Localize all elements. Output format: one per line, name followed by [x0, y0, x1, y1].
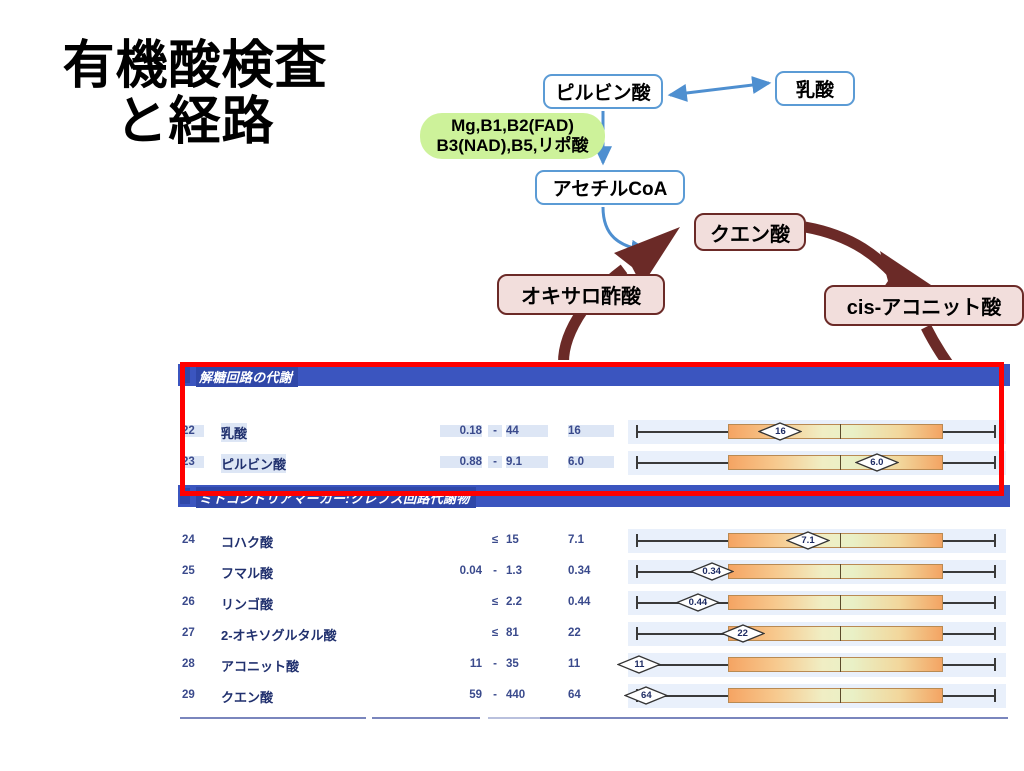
plot-value-label: 64: [624, 686, 668, 705]
plot-value-marker[interactable]: 0.34: [690, 562, 734, 581]
plot-value-label: 22: [721, 624, 765, 643]
plot-cap-left: [636, 627, 638, 640]
node-cis-aconitate[interactable]: cis-アコニット酸: [824, 285, 1024, 326]
table-row[interactable]: 23ピルビン酸0.88-9.16.06.0: [178, 448, 1010, 479]
row-range-high: 2.2: [506, 596, 548, 608]
plot-value-label: 16: [758, 422, 802, 441]
row-range-plot: 6.0: [628, 451, 1006, 475]
row-index: 27: [182, 627, 204, 639]
plot-cap-right: [994, 425, 996, 438]
row-index: 28: [182, 658, 204, 670]
plot-cap-right: [994, 689, 996, 702]
plot-value-marker[interactable]: 0.44: [676, 593, 720, 612]
plot-reference-band: [728, 455, 943, 470]
plot-cap-right: [994, 658, 996, 671]
plot-value-marker[interactable]: 16: [758, 422, 802, 441]
plot-value-label: 11: [617, 655, 661, 674]
table-bottom-rule: [180, 717, 1008, 719]
row-analyte-name: フマル酸: [221, 563, 273, 582]
plot-midline-tick: [840, 688, 841, 703]
row-result-value: 22: [568, 627, 614, 639]
row-range-low: 0.18: [440, 425, 482, 437]
plot-value-marker[interactable]: 7.1: [786, 531, 830, 550]
table-row[interactable]: 22乳酸0.18-441616: [178, 417, 1010, 448]
row-result-value: 0.34: [568, 565, 614, 577]
table-row[interactable]: 28アコニット酸11-351111: [178, 650, 1010, 681]
table-row[interactable]: 272-オキソグルタル酸≤812222: [178, 619, 1010, 650]
row-range-plot: 64: [628, 684, 1006, 708]
page-title: 有機酸検査 と経路: [30, 38, 360, 150]
row-range-high: 15: [506, 534, 548, 546]
row-range-sep: -: [488, 425, 502, 437]
plot-value-marker[interactable]: 11: [617, 655, 661, 674]
plot-midline-tick: [840, 424, 841, 439]
section-marker-icon: [180, 488, 190, 504]
table-row[interactable]: 24コハク酸≤157.17.1: [178, 526, 1010, 557]
plot-midline-tick: [840, 626, 841, 641]
row-range-sep: -: [488, 565, 502, 577]
row-range-sep: -: [488, 456, 502, 468]
node-lactate-label: 乳酸: [796, 75, 834, 102]
section-marker-icon: [180, 367, 190, 383]
row-range-high: 44: [506, 425, 548, 437]
table-row[interactable]: 29クエン酸59-4406464: [178, 681, 1010, 712]
plot-cap-left: [636, 596, 638, 609]
plot-cap-right: [994, 565, 996, 578]
page-title-line1: 有機酸検査: [62, 37, 327, 95]
plot-cap-right: [994, 596, 996, 609]
table-row[interactable]: 25フマル酸0.04-1.30.340.34: [178, 557, 1010, 588]
metabolic-pathway-diagram: ピルビン酸 乳酸 アセチルCoA Mg,B1,B2(FAD) B3(NAD),B…: [380, 55, 1024, 375]
plot-reference-band: [728, 564, 943, 579]
plot-reference-band: [728, 533, 943, 548]
row-result-value: 64: [568, 689, 614, 701]
organic-acid-report-table: 解糖回路の代謝 ミトコンドリアマーカー:クレブス回路代謝物 22乳酸0.18-4…: [178, 360, 1010, 725]
row-analyte-name: ピルビン酸: [221, 454, 286, 473]
node-acetyl-coa[interactable]: アセチルCoA: [535, 170, 685, 205]
row-range-sep: -: [488, 689, 502, 701]
plot-cap-right: [994, 456, 996, 469]
plot-value-label: 0.44: [676, 593, 720, 612]
node-citrate-label: クエン酸: [710, 218, 790, 247]
row-range-high: 81: [506, 627, 548, 639]
plot-midline-tick: [840, 564, 841, 579]
section-header-mitochondrial-label: ミトコンドリアマーカー:クレブス回路代謝物: [196, 487, 476, 508]
row-range-sep: ≤: [488, 627, 502, 639]
plot-value-label: 6.0: [855, 453, 899, 472]
plot-reference-band: [728, 688, 943, 703]
section-header-glycolysis: 解糖回路の代謝: [178, 364, 1010, 386]
row-range-high: 440: [506, 689, 548, 701]
row-result-value: 16: [568, 425, 614, 437]
row-range-low: 11: [440, 658, 482, 670]
row-index: 26: [182, 596, 204, 608]
row-index: 22: [182, 425, 204, 437]
row-analyte-name: クエン酸: [221, 687, 273, 706]
row-result-value: 7.1: [568, 534, 614, 546]
node-oxaloacetate-label: オキサロ酢酸: [521, 280, 641, 309]
node-pyruvate-label: ピルビン酸: [555, 78, 650, 105]
row-analyte-name: 乳酸: [221, 423, 247, 442]
arrow-lactate-pyruvate: [670, 83, 769, 95]
row-range-plot: 0.44: [628, 591, 1006, 615]
table-row[interactable]: 26リンゴ酸≤2.20.440.44: [178, 588, 1010, 619]
row-range-plot: 22: [628, 622, 1006, 646]
plot-value-marker[interactable]: 6.0: [855, 453, 899, 472]
row-result-value: 6.0: [568, 456, 614, 468]
row-range-low: 0.88: [440, 456, 482, 468]
plot-midline-tick: [840, 657, 841, 672]
plot-cap-left: [636, 456, 638, 469]
plot-reference-band: [728, 595, 943, 610]
row-range-sep: -: [488, 658, 502, 670]
row-analyte-name: リンゴ酸: [221, 594, 273, 613]
row-analyte-name: コハク酸: [221, 532, 273, 551]
row-result-value: 0.44: [568, 596, 614, 608]
plot-midline-tick: [840, 533, 841, 548]
plot-cap-right: [994, 534, 996, 547]
plot-reference-band: [728, 657, 943, 672]
plot-value-label: 7.1: [786, 531, 830, 550]
row-index: 25: [182, 565, 204, 577]
row-range-plot: 7.1: [628, 529, 1006, 553]
page-title-line2: と経路: [30, 94, 360, 150]
plot-midline-tick: [840, 455, 841, 470]
plot-value-marker[interactable]: 22: [721, 624, 765, 643]
node-pyruvate[interactable]: ピルビン酸: [543, 74, 663, 109]
node-oxaloacetate[interactable]: オキサロ酢酸: [497, 274, 665, 315]
row-range-high: 35: [506, 658, 548, 670]
plot-cap-left: [636, 425, 638, 438]
plot-midline-tick: [840, 595, 841, 610]
cofactors-line2: B3(NAD),B5,リポ酸: [436, 136, 588, 156]
plot-cap-left: [636, 534, 638, 547]
plot-value-marker[interactable]: 64: [624, 686, 668, 705]
row-range-plot: 16: [628, 420, 1006, 444]
row-range-plot: 11: [628, 653, 1006, 677]
row-range-low: 0.04: [440, 565, 482, 577]
plot-cap-left: [636, 565, 638, 578]
row-range-plot: 0.34: [628, 560, 1006, 584]
node-lactate[interactable]: 乳酸: [775, 71, 855, 106]
row-analyte-name: 2-オキソグルタル酸: [221, 625, 337, 644]
row-index: 29: [182, 689, 204, 701]
node-citrate[interactable]: クエン酸: [694, 213, 806, 251]
row-range-high: 1.3: [506, 565, 548, 577]
row-index: 24: [182, 534, 204, 546]
row-range-low: 59: [440, 689, 482, 701]
row-range-sep: ≤: [488, 596, 502, 608]
section-header-mitochondrial: ミトコンドリアマーカー:クレブス回路代謝物: [178, 485, 1010, 507]
cofactors-callout: Mg,B1,B2(FAD) B3(NAD),B5,リポ酸: [420, 113, 605, 159]
cofactors-line1: Mg,B1,B2(FAD): [451, 116, 574, 136]
slide-canvas: 有機酸検査 と経路: [0, 0, 1024, 771]
plot-cap-right: [994, 627, 996, 640]
row-range-high: 9.1: [506, 456, 548, 468]
section-header-glycolysis-label: 解糖回路の代謝: [196, 366, 298, 387]
row-result-value: 11: [568, 658, 614, 670]
row-range-sep: ≤: [488, 534, 502, 546]
node-acetyl-coa-label: アセチルCoA: [553, 174, 668, 201]
plot-value-label: 0.34: [690, 562, 734, 581]
row-analyte-name: アコニット酸: [221, 656, 299, 675]
node-cis-aconitate-label: cis-アコニット酸: [847, 291, 1001, 320]
row-index: 23: [182, 456, 204, 468]
